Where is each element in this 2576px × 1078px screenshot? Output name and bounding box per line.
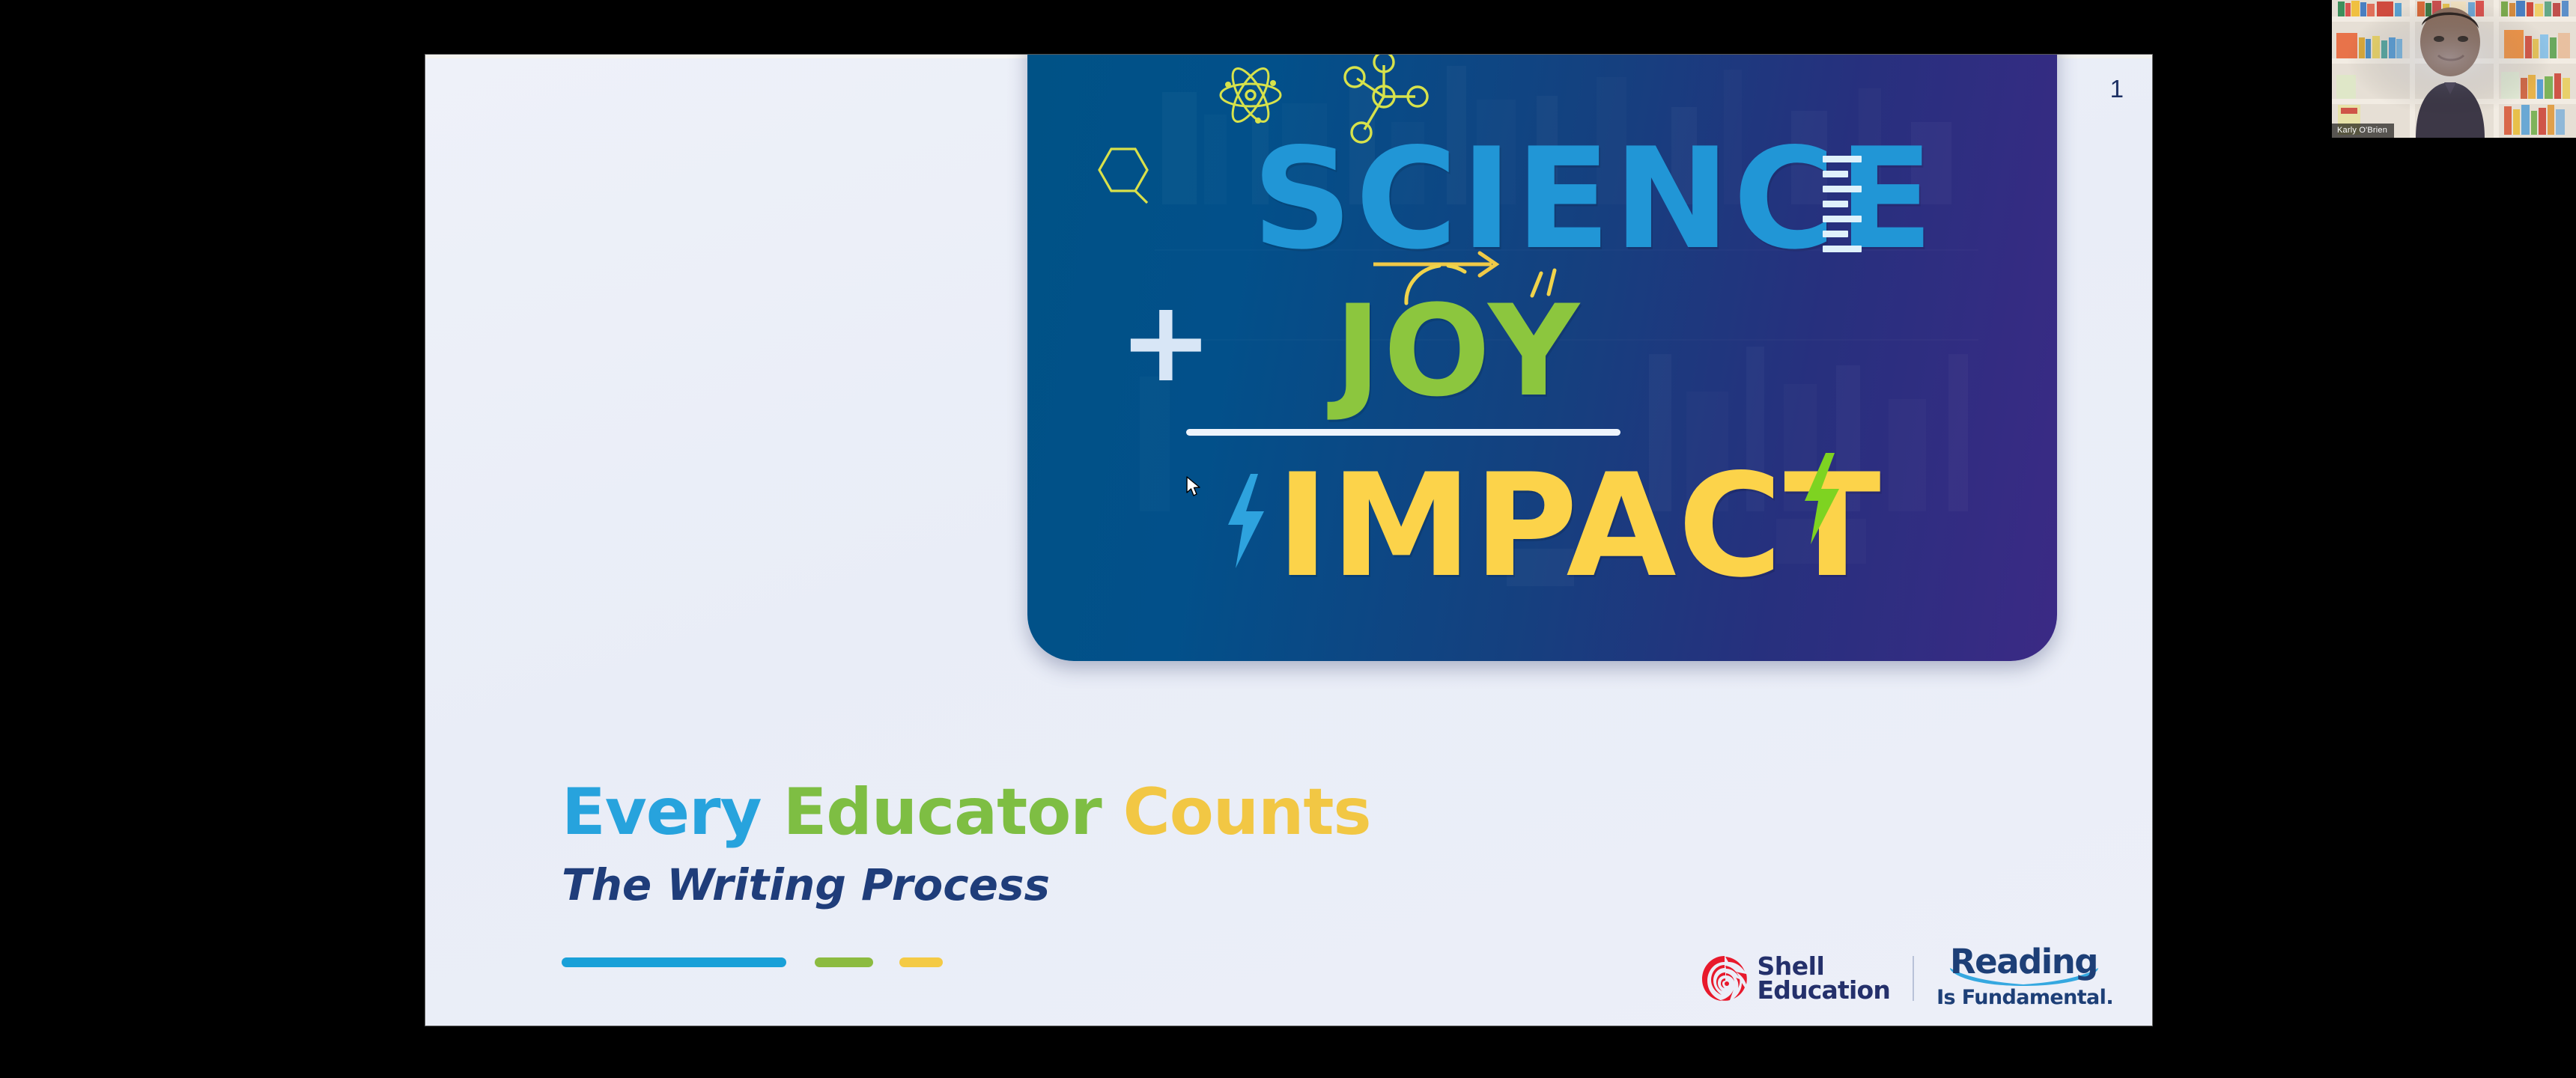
webcam-video <box>2332 0 2576 138</box>
accent-bar-green <box>815 957 873 967</box>
accent-bar-yellow <box>899 957 943 967</box>
hero-word-impact: IMPACT <box>1276 455 1883 597</box>
logo-divider <box>1913 956 1914 1001</box>
plus-icon: + <box>1119 308 1189 378</box>
shell-line1: Shell <box>1758 954 1891 978</box>
rif-tagline: Is Fundamental. <box>1936 986 2113 1009</box>
title-word-counts: Counts <box>1123 775 1371 850</box>
shell-education-wordmark: Shell Education <box>1758 954 1891 1002</box>
accent-bar-blue <box>562 957 786 967</box>
smile-arc-icon <box>1402 261 1484 306</box>
page-title: Every Educator Counts <box>562 775 1371 850</box>
shell-line2: Education <box>1758 978 1891 1002</box>
hero-artwork: SCIENCE + JOY <box>1027 55 2057 661</box>
page-subtitle: The Writing Process <box>562 859 1050 910</box>
title-word-every: Every <box>562 775 762 850</box>
hexagon-molecule-icon <box>1093 135 1153 204</box>
reading-is-fundamental-logo: Reading Is Fundamental. <box>1936 947 2113 1009</box>
mouse-cursor <box>1186 476 1203 499</box>
webcam-tile[interactable]: Karly O'Brien <box>2332 0 2576 138</box>
presentation-slide[interactable]: 1 <box>425 55 2152 1026</box>
shell-education-logo: Shell Education <box>1700 954 1891 1003</box>
title-word-educator: Educator <box>783 775 1102 850</box>
nautilus-shell-icon <box>1700 954 1749 1003</box>
accent-bars <box>562 956 943 966</box>
participant-name-label: Karly O'Brien <box>2332 124 2394 138</box>
screen-root: 1 <box>0 0 2576 1078</box>
lightning-bolt-green-icon <box>1800 451 1842 546</box>
lightning-bolt-blue-icon <box>1224 472 1269 570</box>
spark-lines-icon <box>1522 264 1574 324</box>
rif-wordmark: Reading <box>1950 945 2100 978</box>
slide-number: 1 <box>2110 75 2124 103</box>
ruler-icon <box>1823 156 1862 252</box>
hero-divider <box>1186 429 1620 436</box>
logo-row: Shell Education Reading Is Fundamental. <box>1700 947 2113 1009</box>
